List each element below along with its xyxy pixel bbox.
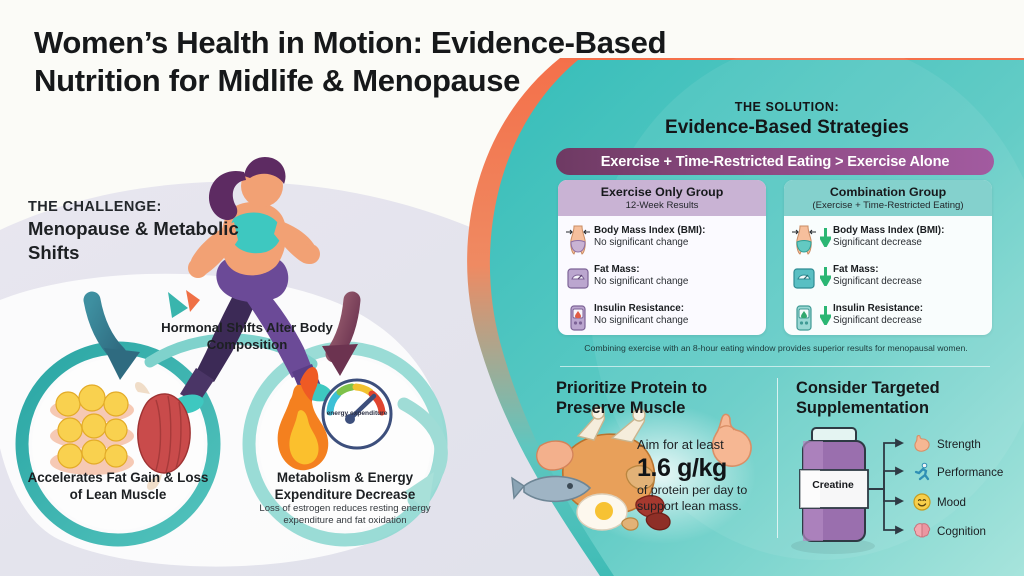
metric-name: Body Mass Index (BMI): [594, 225, 760, 237]
comparison-banner: Exercise + Time-Restricted Eating > Exer… [556, 148, 994, 175]
scale-icon [565, 262, 591, 296]
metric-list: Body Mass Index (BMI): Significant decre… [784, 216, 992, 335]
metric-result: Significant decrease [833, 315, 986, 328]
card-heading: Combination Group [788, 185, 988, 199]
bicep-icon [912, 434, 932, 454]
horizontal-divider [560, 366, 990, 367]
protein-callout: Aim for at least 1.6 g/kg of protein per… [637, 437, 777, 515]
metric-row: Fat Mass: No significant change [565, 262, 760, 296]
metric-name: Body Mass Index (BMI): [833, 225, 986, 237]
challenge-node-sub-1: Loss of estrogen reduces resting energy … [248, 503, 442, 528]
page-title: Women’s Health in Motion: Evidence-Based… [34, 24, 774, 101]
metric-result: No significant change [594, 237, 760, 250]
arrow-down-icon [820, 223, 831, 247]
exercise-only-card: Exercise Only Group 12-Week Results Body… [558, 180, 766, 335]
solution-title: Evidence-Based Strategies [577, 117, 997, 139]
gauge-label: energy expenditure [326, 410, 388, 418]
metric-name: Fat Mass: [833, 264, 986, 276]
challenge-node-caption-1: Metabolism & Energy Expenditure Decrease [246, 470, 444, 504]
vertical-divider [777, 378, 778, 538]
creatine-bottle-illustration [791, 428, 875, 554]
creatine-bottle-label: Creatine [800, 480, 866, 491]
card-header: Combination Group (Exercise + Time-Restr… [784, 180, 992, 216]
challenge-title: Menopause & Metabolic Shifts [28, 217, 243, 264]
fat-cells-icon [50, 385, 134, 475]
protein-amount: 1.6 g/kg [637, 454, 777, 482]
benefit-label: Performance [937, 466, 1003, 479]
card-subheading: 12-Week Results [562, 200, 762, 211]
metric-result: No significant change [594, 315, 760, 328]
metric-row: Fat Mass: Significant decrease [791, 262, 986, 296]
body-silhouette-icon [791, 223, 817, 257]
supplementation-section-title: Consider Targeted Supplementation [796, 378, 996, 418]
infographic-canvas: Women’s Health in Motion: Evidence-Based… [0, 0, 1024, 576]
hormonal-shifts-label: Hormonal Shifts Alter Body Composition [152, 320, 342, 353]
brain-icon [912, 521, 932, 541]
solution-kicker: THE SOLUTION: [597, 100, 977, 114]
benefit-item-performance: Performance [912, 462, 1003, 482]
benefit-item-cognition: Cognition [912, 521, 986, 541]
runner-icon [912, 462, 932, 482]
card-subheading: (Exercise + Time-Restricted Eating) [788, 200, 988, 211]
arrow-down-icon [820, 301, 831, 325]
benefit-label: Cognition [937, 525, 986, 538]
challenge-kicker: THE CHALLENGE: [28, 199, 162, 215]
protein-line3: of protein per day to support lean mass. [637, 483, 777, 515]
challenge-node-caption-0: Accelerates Fat Gain & Loss of Lean Musc… [22, 470, 214, 504]
glucose-meter-icon [565, 301, 591, 335]
benefit-label: Mood [937, 496, 966, 509]
benefit-label: Strength [937, 438, 981, 451]
metric-list: Body Mass Index (BMI): No significant ch… [558, 216, 766, 335]
metric-row: Insulin Resistance: No significant chang… [565, 301, 760, 335]
smiley-icon [912, 492, 932, 512]
metric-row: Insulin Resistance: Significant decrease [791, 301, 986, 335]
protein-section-title: Prioritize Protein to Preserve Muscle [556, 378, 766, 418]
metric-result: No significant change [594, 276, 760, 289]
benefit-item-strength: Strength [912, 434, 981, 454]
glucose-meter-icon [791, 301, 817, 335]
body-silhouette-icon [565, 223, 591, 257]
scale-icon [791, 262, 817, 296]
card-header: Exercise Only Group 12-Week Results [558, 180, 766, 216]
arrow-down-icon [820, 262, 831, 286]
metric-result: Significant decrease [833, 237, 986, 250]
benefit-item-mood: Mood [912, 492, 966, 512]
card-heading: Exercise Only Group [562, 185, 762, 199]
protein-line1: Aim for at least [637, 437, 777, 453]
metric-row: Body Mass Index (BMI): No significant ch… [565, 223, 760, 257]
metric-name: Insulin Resistance: [833, 303, 986, 315]
metric-name: Insulin Resistance: [594, 303, 760, 315]
metric-name: Fat Mass: [594, 264, 760, 276]
combination-group-card: Combination Group (Exercise + Time-Restr… [784, 180, 992, 335]
metric-row: Body Mass Index (BMI): Significant decre… [791, 223, 986, 257]
metric-result: Significant decrease [833, 276, 986, 289]
solution-footnote: Combining exercise with an 8-hour eating… [556, 343, 996, 353]
